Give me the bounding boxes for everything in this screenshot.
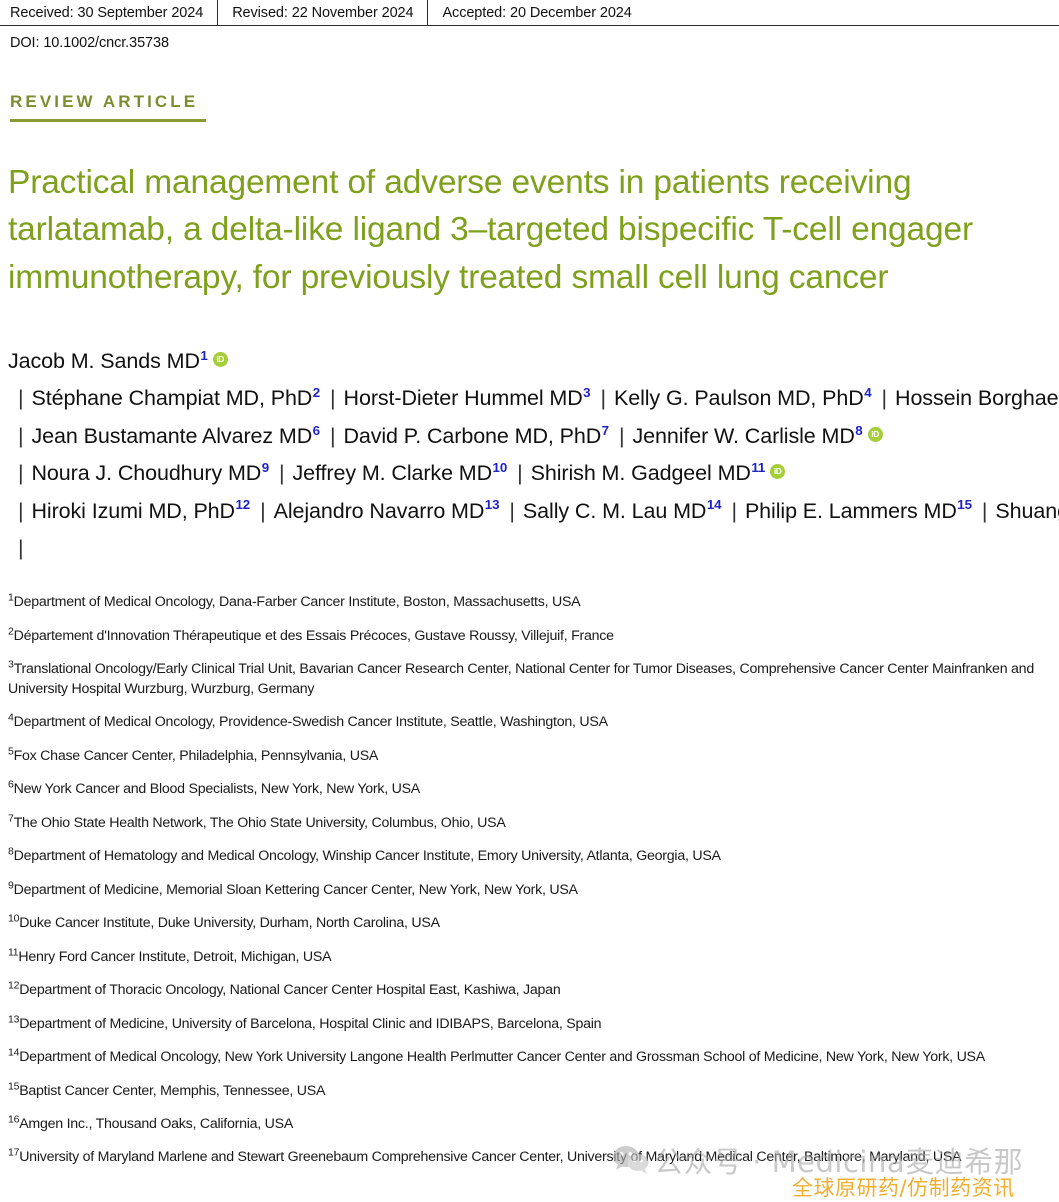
affiliation-17: 17University of Maryland Marlene and Ste… <box>8 1148 1056 1167</box>
affiliation-text: New York Cancer and Blood Specialists, N… <box>14 781 420 797</box>
article-title: Practical management of adverse events i… <box>8 159 1043 302</box>
affiliation-13: 13Department of Medicine, University of … <box>8 1015 1056 1034</box>
author-14[interactable]: Sally C. M. Lau MD14 <box>523 499 722 523</box>
author-affiliation-marker: 14 <box>707 497 722 512</box>
affiliation-text: Duke Cancer Institute, Duke University, … <box>19 915 440 931</box>
affiliation-marker: 12 <box>8 979 19 991</box>
affiliation-15: 15Baptist Cancer Center, Memphis, Tennes… <box>8 1082 1056 1101</box>
article-type-rule <box>10 119 206 122</box>
author-name: Jeffrey M. Clarke MD <box>293 461 493 485</box>
author-name: Horst-Dieter Hummel MD <box>344 386 583 410</box>
doi-line[interactable]: DOI: 10.1002/cncr.35738 <box>0 26 1059 51</box>
author-name: Jacob M. Sands MD <box>8 349 200 373</box>
author-separator: | <box>250 499 274 523</box>
author-5[interactable]: Hossein Borghaei DO5 <box>895 386 1059 410</box>
affiliation-9: 9Department of Medicine, Memorial Sloan … <box>8 881 1056 900</box>
affiliation-14: 14Department of Medical Oncology, New Yo… <box>8 1048 1056 1067</box>
affiliation-text: The Ohio State Health Network, The Ohio … <box>14 815 506 831</box>
received-date: Received: 30 September 2024 <box>0 0 217 25</box>
author-6[interactable]: Jean Bustamante Alvarez MD6 <box>32 424 320 448</box>
author-separator: | <box>872 386 896 410</box>
author-separator: | <box>8 536 32 560</box>
affiliation-12: 12Department of Thoracic Oncology, Natio… <box>8 981 1056 1000</box>
affiliation-11: 11Henry Ford Cancer Institute, Detroit, … <box>8 948 1056 967</box>
affiliation-7: 7The Ohio State Health Network, The Ohio… <box>8 814 1056 833</box>
author-affiliation-marker: 12 <box>235 497 250 512</box>
affiliation-3: 3Translational Oncology/Early Clinical T… <box>8 660 1056 699</box>
article-first-page: Received: 30 September 2024 Revised: 22 … <box>0 0 1059 1198</box>
affiliation-text: Department of Medical Oncology, New York… <box>19 1049 985 1065</box>
author-affiliation-marker: 6 <box>313 423 320 438</box>
author-12[interactable]: Hiroki Izumi MD, PhD12 <box>32 499 251 523</box>
author-affiliation-marker: 9 <box>262 460 269 475</box>
author-separator: | <box>8 386 32 410</box>
author-16[interactable]: Shuang Huang PhD16 <box>995 499 1059 523</box>
author-affiliation-marker: 10 <box>493 460 508 475</box>
article-type-block: REVIEW ARTICLE <box>10 92 206 122</box>
author-7[interactable]: David P. Carbone MD, PhD7 <box>343 424 609 448</box>
affiliation-text: Department of Thoracic Oncology, Nationa… <box>19 982 560 998</box>
affiliation-text: Department of Medicine, University of Ba… <box>19 1016 601 1032</box>
orcid-icon[interactable] <box>213 352 228 367</box>
author-name: Hiroki Izumi MD, PhD <box>32 499 235 523</box>
affiliation-1: 1Department of Medical Oncology, Dana-Fa… <box>8 593 1056 612</box>
affiliation-8: 8Department of Hematology and Medical On… <box>8 847 1056 866</box>
author-2[interactable]: Stéphane Champiat MD, PhD2 <box>32 386 321 410</box>
affiliation-5: 5Fox Chase Cancer Center, Philadelphia, … <box>8 747 1056 766</box>
author-name: Shuang Huang PhD <box>995 499 1059 523</box>
affiliation-2: 2Département d'Innovation Thérapeutique … <box>8 627 1056 646</box>
author-8[interactable]: Jennifer W. Carlisle MD8 <box>632 424 883 448</box>
article-type-label: REVIEW ARTICLE <box>10 92 206 119</box>
author-affiliation-marker: 13 <box>485 497 500 512</box>
author-affiliation-marker: 8 <box>855 423 862 438</box>
author-10[interactable]: Jeffrey M. Clarke MD10 <box>293 461 508 485</box>
author-affiliation-marker: 15 <box>957 497 972 512</box>
author-name: Stéphane Champiat MD, PhD <box>32 386 313 410</box>
revised-date: Revised: 22 November 2024 <box>217 0 427 25</box>
affiliation-marker: 15 <box>8 1080 19 1092</box>
affiliation-10: 10Duke Cancer Institute, Duke University… <box>8 914 1056 933</box>
author-name: Shirish M. Gadgeel MD <box>531 461 751 485</box>
author-1[interactable]: Jacob M. Sands MD1 <box>8 349 229 373</box>
author-name: Jennifer W. Carlisle MD <box>632 424 854 448</box>
author-name: Philip E. Lammers MD <box>745 499 957 523</box>
author-15[interactable]: Philip E. Lammers MD15 <box>745 499 972 523</box>
author-separator: | <box>507 461 531 485</box>
author-3[interactable]: Horst-Dieter Hummel MD3 <box>344 386 591 410</box>
author-9[interactable]: Noura J. Choudhury MD9 <box>32 461 270 485</box>
affiliation-text: University of Maryland Marlene and Stewa… <box>19 1149 961 1165</box>
orcid-icon[interactable] <box>770 464 785 479</box>
article-history-bar: Received: 30 September 2024 Revised: 22 … <box>0 0 1059 26</box>
author-list: Jacob M. Sands MD1|Stéphane Champiat MD,… <box>8 343 1048 567</box>
affiliation-text: Fox Chase Cancer Center, Philadelphia, P… <box>14 748 379 764</box>
affiliation-marker: 14 <box>8 1046 19 1058</box>
author-affiliation-marker: 1 <box>200 348 207 363</box>
author-separator: | <box>320 386 344 410</box>
author-separator: | <box>609 424 633 448</box>
author-name: David P. Carbone MD, PhD <box>343 424 601 448</box>
accepted-date: Accepted: 20 December 2024 <box>427 0 645 25</box>
affiliation-text: Department of Medicine, Memorial Sloan K… <box>14 882 578 898</box>
author-name: Sally C. M. Lau MD <box>523 499 706 523</box>
author-separator: | <box>499 499 523 523</box>
author-affiliation-marker: 2 <box>313 385 320 400</box>
author-name: Hossein Borghaei DO <box>895 386 1059 410</box>
author-4[interactable]: Kelly G. Paulson MD, PhD4 <box>614 386 872 410</box>
author-separator: | <box>8 424 32 448</box>
affiliation-text: Department of Medical Oncology, Providen… <box>14 714 608 730</box>
affiliation-text: Department of Medical Oncology, Dana-Far… <box>14 594 581 610</box>
affiliation-marker: 13 <box>8 1013 19 1025</box>
author-name: Kelly G. Paulson MD, PhD <box>614 386 864 410</box>
author-separator: | <box>721 499 745 523</box>
affiliation-text: Amgen Inc., Thousand Oaks, California, U… <box>19 1116 293 1132</box>
affiliation-text: Baptist Cancer Center, Memphis, Tennesse… <box>19 1083 325 1099</box>
author-separator: | <box>269 461 293 485</box>
affiliation-text: Translational Oncology/Early Clinical Tr… <box>8 661 1034 696</box>
author-separator: | <box>590 386 614 410</box>
affiliation-16: 16Amgen Inc., Thousand Oaks, California,… <box>8 1115 1056 1134</box>
orcid-icon[interactable] <box>868 427 883 442</box>
author-name: Jean Bustamante Alvarez MD <box>32 424 313 448</box>
author-separator: | <box>8 461 32 485</box>
author-affiliation-marker: 11 <box>751 460 765 475</box>
affiliation-list: 1Department of Medical Oncology, Dana-Fa… <box>8 593 1056 1167</box>
author-11[interactable]: Shirish M. Gadgeel MD11 <box>531 461 787 485</box>
affiliation-marker: 16 <box>8 1113 19 1125</box>
affiliation-text: Department of Hematology and Medical Onc… <box>14 848 721 864</box>
author-name: Noura J. Choudhury MD <box>32 461 262 485</box>
author-affiliation-marker: 4 <box>864 385 871 400</box>
affiliation-marker: 17 <box>8 1147 19 1159</box>
author-separator: | <box>8 499 32 523</box>
affiliation-marker: 11 <box>8 946 18 958</box>
affiliation-text: Département d'Innovation Thérapeutique e… <box>14 628 614 644</box>
author-name: Alejandro Navarro MD <box>274 499 485 523</box>
affiliation-4: 4Department of Medical Oncology, Provide… <box>8 713 1056 732</box>
affiliation-6: 6New York Cancer and Blood Specialists, … <box>8 780 1056 799</box>
author-separator: | <box>320 424 344 448</box>
affiliation-text: Henry Ford Cancer Institute, Detroit, Mi… <box>18 949 331 965</box>
author-13[interactable]: Alejandro Navarro MD13 <box>274 499 500 523</box>
author-separator: | <box>972 499 996 523</box>
affiliation-marker: 10 <box>8 912 19 924</box>
author-affiliation-marker: 7 <box>602 423 609 438</box>
